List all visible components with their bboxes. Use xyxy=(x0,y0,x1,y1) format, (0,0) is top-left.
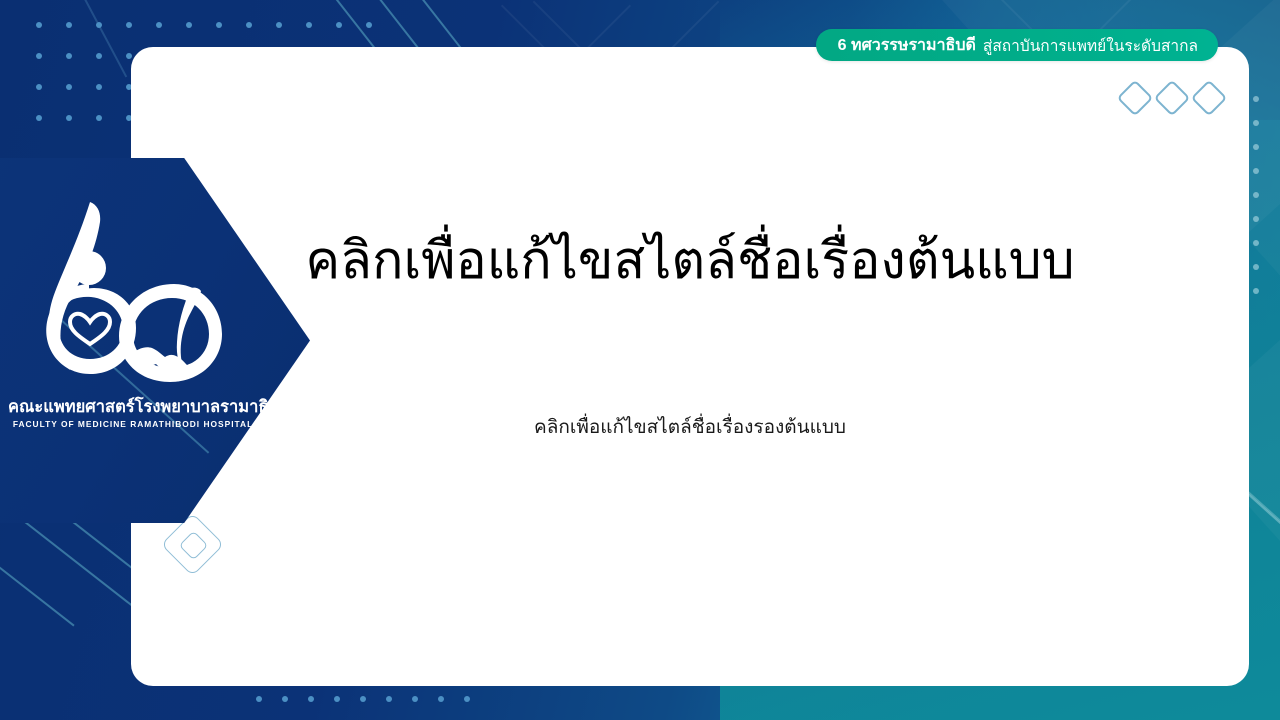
ribbon-tagline-text: สู่สถาบันการแพทย์ในระดับสากล xyxy=(983,33,1198,58)
decorative-dot xyxy=(386,696,392,702)
decorative-dot xyxy=(36,115,42,121)
decorative-dot xyxy=(96,84,102,90)
decorative-dot xyxy=(438,696,444,702)
ramathibodi-logo: คณะแพทยศาสตร์โรงพยาบาลรามาธิบดี FACULTY … xyxy=(8,196,258,429)
decorative-dot xyxy=(216,22,222,28)
decorative-dot xyxy=(66,84,72,90)
decorative-dot xyxy=(246,22,252,28)
decorative-dot-grid-right xyxy=(1253,96,1267,312)
decorative-dot xyxy=(282,696,288,702)
slide-content-card: คลิกเพื่อแก้ไขสไตล์ชื่อเรื่องต้นแบบ คลิก… xyxy=(131,47,1249,686)
slide-subtitle-placeholder[interactable]: คลิกเพื่อแก้ไขสไตล์ชื่อเรื่องรองต้นแบบ xyxy=(131,415,1249,442)
decorative-dot xyxy=(412,696,418,702)
slide-title-placeholder[interactable]: คลิกเพื่อแก้ไขสไตล์ชื่อเรื่องต้นแบบ xyxy=(131,229,1249,294)
decorative-dot xyxy=(96,115,102,121)
decorative-dot xyxy=(366,22,372,28)
decorative-dot xyxy=(334,696,340,702)
decorative-dot xyxy=(1253,120,1259,126)
decorative-dot xyxy=(1253,216,1259,222)
decorative-dot xyxy=(126,53,132,59)
presentation-slide: คลิกเพื่อแก้ไขสไตล์ชื่อเรื่องต้นแบบ คลิก… xyxy=(0,0,1280,720)
logo-60-anniversary-icon xyxy=(18,196,248,396)
decorative-dot xyxy=(276,22,282,28)
decorative-dot xyxy=(96,22,102,28)
logo-thai-name: คณะแพทยศาสตร์โรงพยาบาลรามาธิบดี xyxy=(8,398,258,417)
decorative-dot xyxy=(256,696,262,702)
decorative-dot xyxy=(156,22,162,28)
anniversary-ribbon-banner: 6 ทศวรรษรามาธิบดี สู่สถาบันการแพทย์ในระด… xyxy=(816,29,1218,61)
ribbon-headline-text: 6 ทศวรรษรามาธิบดี xyxy=(838,33,976,58)
decorative-dot xyxy=(230,696,236,702)
decorative-dot xyxy=(306,22,312,28)
decorative-dot xyxy=(66,22,72,28)
decorative-dot xyxy=(360,696,366,702)
decorative-dot xyxy=(464,696,470,702)
decorative-dot xyxy=(126,22,132,28)
decorative-dot xyxy=(1253,192,1259,198)
decorative-dot xyxy=(96,53,102,59)
decorative-dot xyxy=(1253,96,1259,102)
decorative-dot xyxy=(36,53,42,59)
decorative-dot xyxy=(308,696,314,702)
decorative-dot xyxy=(66,53,72,59)
decorative-dot xyxy=(490,696,496,702)
decorative-dot xyxy=(1253,288,1259,294)
decorative-nested-diamond-icon xyxy=(170,522,215,567)
decorative-dot xyxy=(36,22,42,28)
decorative-dot xyxy=(1253,264,1259,270)
decorative-dot xyxy=(1253,144,1259,150)
logo-english-name: FACULTY OF MEDICINE RAMATHIBODI HOSPITAL xyxy=(8,419,258,429)
decorative-dot xyxy=(1253,240,1259,246)
decorative-dot xyxy=(1253,168,1259,174)
decorative-dot xyxy=(186,22,192,28)
decorative-dot xyxy=(336,22,342,28)
decorative-dot xyxy=(36,84,42,90)
decorative-dot xyxy=(66,115,72,121)
